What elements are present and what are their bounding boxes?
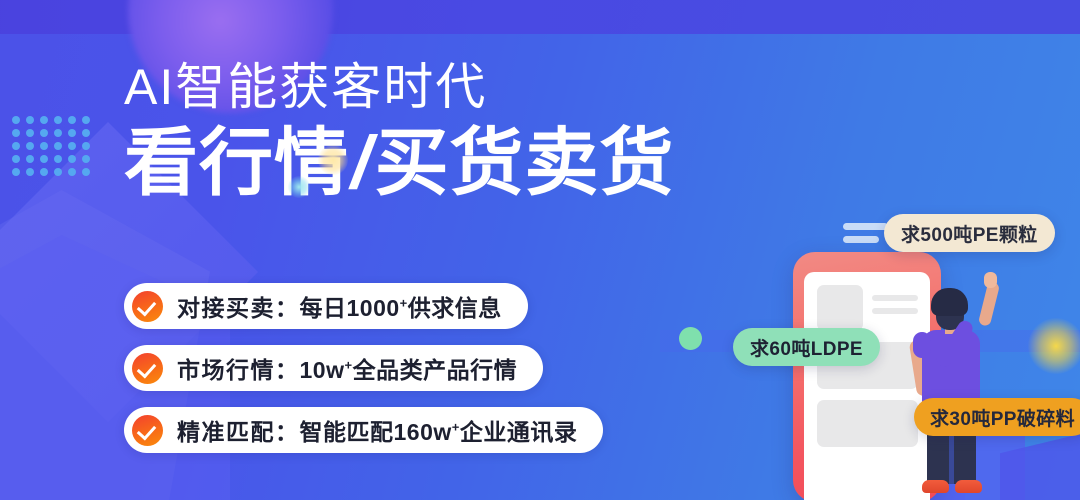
feature-sup-1: +: [400, 295, 408, 310]
check-circle-icon: [132, 291, 163, 322]
sparkle-decor-2: [288, 176, 310, 198]
person-shoe-left: [922, 480, 949, 493]
check-circle-icon: [132, 353, 163, 384]
feature-value-pre-2: 10w: [300, 357, 345, 383]
headline-main-part1: 看行情: [124, 121, 349, 204]
promo-banner: AI智能获客时代 看行情/买货卖货 对接买卖：每日1000+供求信息 市场行情：…: [0, 0, 1080, 500]
tag-ldpe: 求60吨LDPE: [733, 328, 880, 366]
feature-label-1: 对接买卖：: [177, 295, 300, 321]
feature-sup-2: +: [344, 357, 352, 372]
green-dot-decor: [679, 327, 702, 350]
feature-value-post-3: 企业通讯录: [460, 419, 578, 445]
feature-value-post-2: 全品类产品行情: [353, 357, 518, 383]
person-shoe-right: [955, 480, 982, 493]
screen-block-placeholder-2: [817, 400, 918, 447]
feature-item-2: 市场行情：10w+全品类产品行情: [124, 345, 543, 391]
headline-slash: /: [349, 121, 375, 204]
person-sleeve-left: [913, 332, 931, 358]
feature-label-3: 精准匹配：: [177, 419, 300, 445]
person-hand-raised: [984, 272, 997, 288]
feature-text-1: 对接买卖：每日1000+供求信息: [177, 289, 502, 323]
headline-block: AI智能获客时代 看行情/买货卖货: [124, 62, 884, 202]
person-forearm-raised: [978, 281, 1000, 327]
feature-list: 对接买卖：每日1000+供求信息 市场行情：10w+全品类产品行情 精准匹配：智…: [124, 283, 603, 469]
person-illustration: [905, 288, 1015, 500]
yellow-glow-decor: [1028, 318, 1080, 374]
headline-main: 看行情/买货卖货: [124, 124, 884, 202]
tag-pe-pellets: 求500吨PE颗粒: [884, 214, 1055, 252]
feature-item-3: 精准匹配：智能匹配160w+企业通讯录: [124, 407, 603, 453]
screen-thumbnail-placeholder: [817, 285, 863, 331]
feature-sup-3: +: [452, 419, 460, 434]
headline-eyebrow: AI智能获客时代: [124, 62, 884, 112]
headline-main-part2: 买货卖货: [375, 121, 675, 204]
person-leg-gap: [949, 428, 954, 484]
person-hair: [931, 288, 968, 316]
feature-item-1: 对接买卖：每日1000+供求信息: [124, 283, 528, 329]
sparkle-decor-1: [318, 145, 348, 175]
tag-pp-crushed: 求30吨PP破碎料: [914, 398, 1080, 436]
feature-text-2: 市场行情：10w+全品类产品行情: [177, 351, 517, 385]
dot-grid-decor: [12, 116, 96, 181]
check-circle-icon: [132, 415, 163, 446]
feature-value-pre-1: 每日1000: [300, 295, 400, 321]
feature-label-2: 市场行情：: [177, 357, 300, 383]
feature-value-post-1: 供求信息: [408, 295, 502, 321]
feature-text-3: 精准匹配：智能匹配160w+企业通讯录: [177, 413, 577, 447]
feature-value-pre-3: 智能匹配160w: [300, 419, 452, 445]
headline-underline-bars: [843, 223, 888, 249]
